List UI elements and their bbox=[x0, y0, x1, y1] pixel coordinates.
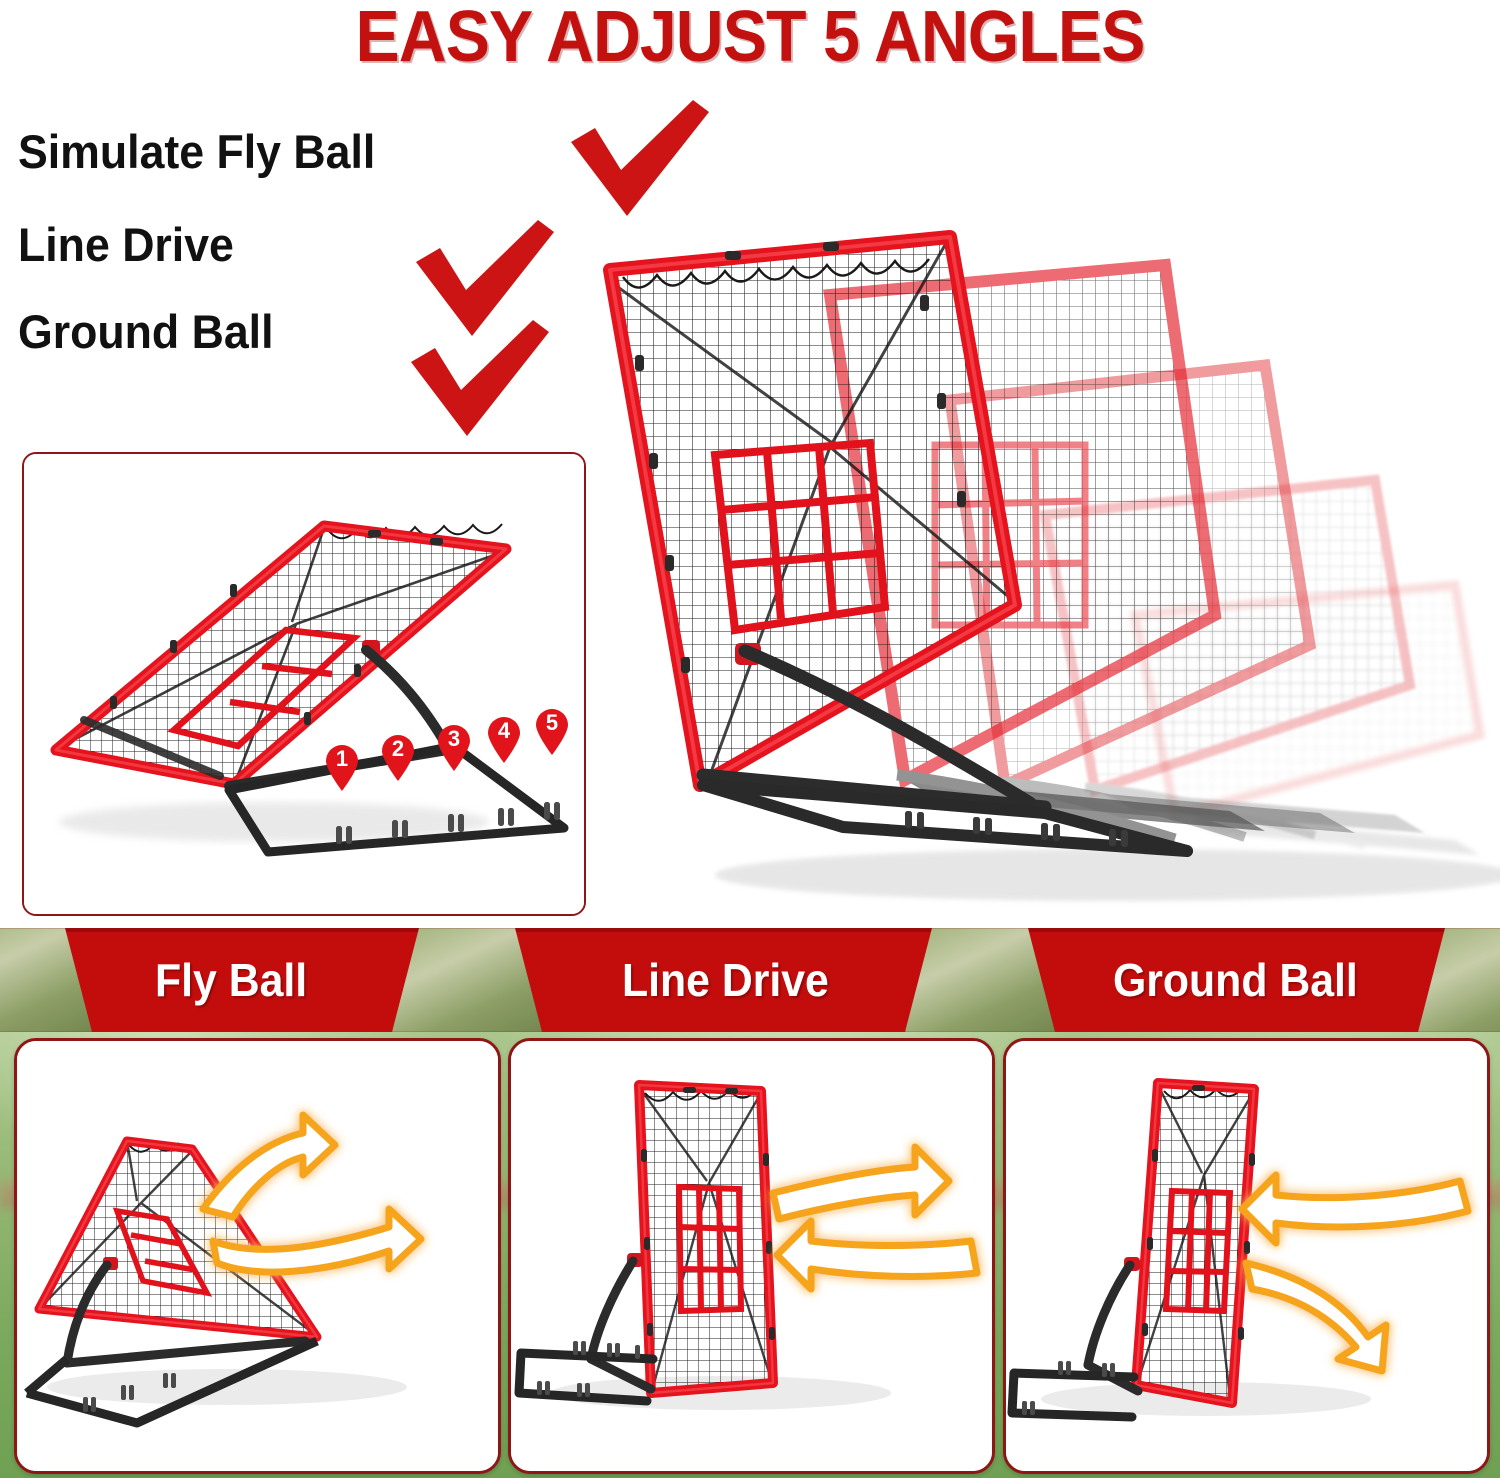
banner-label-line-drive: Line Drive bbox=[622, 950, 829, 1010]
category-banner: Fly Ball Line Drive Ground Ball bbox=[0, 928, 1500, 1032]
panel-ground-ball bbox=[1003, 1038, 1490, 1474]
top-section: EASY ADJUST 5 ANGLES Simulate Fly Ball L… bbox=[0, 0, 1500, 928]
angle-pin-label: 2 bbox=[380, 736, 416, 762]
angle-pin-2: 2 bbox=[380, 734, 416, 782]
panel-line-drive bbox=[508, 1038, 995, 1474]
angle-pin-label: 3 bbox=[436, 726, 472, 752]
infographic-root: EASY ADJUST 5 ANGLES Simulate Fly Ball L… bbox=[0, 0, 1500, 1478]
feature-item-fly-ball: Simulate Fly Ball bbox=[18, 128, 531, 175]
banner-top-rule bbox=[0, 928, 1500, 932]
angle-pin-label: 5 bbox=[534, 710, 570, 736]
checkmark-icon bbox=[565, 98, 715, 218]
page-title: EASY ADJUST 5 ANGLES bbox=[60, 0, 1440, 78]
hero-rebounder-angles bbox=[575, 215, 1500, 915]
angle-pin-1: 1 bbox=[324, 744, 360, 792]
angle-pin-5: 5 bbox=[534, 708, 570, 756]
angle-pin-3: 3 bbox=[436, 724, 472, 772]
banner-label-ground-ball: Ground Ball bbox=[1113, 950, 1358, 1010]
panel-fly-ball bbox=[14, 1038, 501, 1474]
angle-pin-label: 4 bbox=[486, 718, 522, 744]
angle-pin-4: 4 bbox=[486, 716, 522, 764]
angle-notch-inset-panel: 1 2 3 4 5 bbox=[22, 452, 586, 916]
checkmark-icon bbox=[405, 318, 555, 438]
banner-label-fly-ball: Fly Ball bbox=[155, 950, 307, 1010]
angle-pin-label: 1 bbox=[324, 746, 360, 772]
bottom-section bbox=[0, 1032, 1500, 1478]
